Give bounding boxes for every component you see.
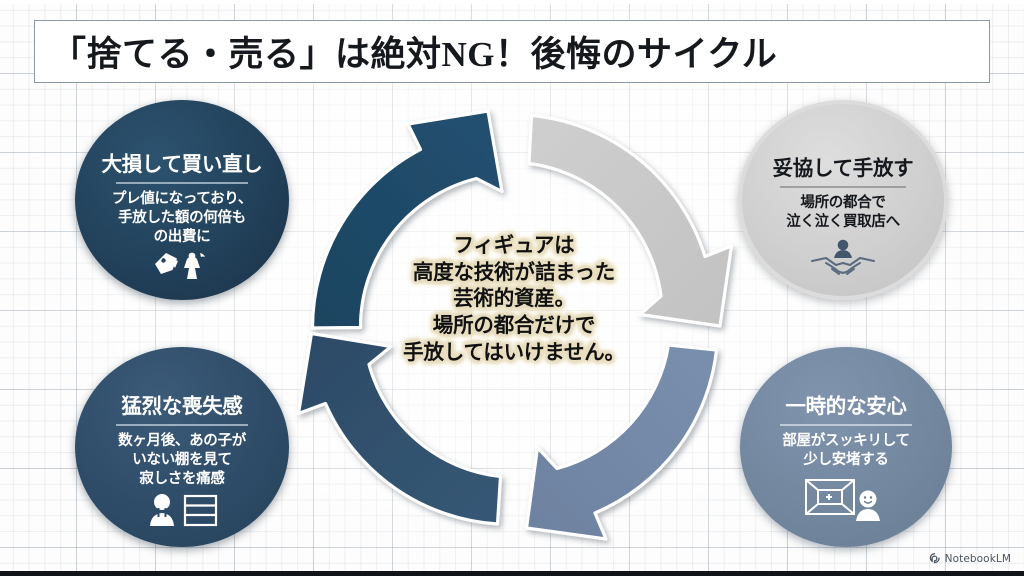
node-body-line-1: 場所の都合で xyxy=(786,194,900,213)
node-body-line-2: いない棚を見て xyxy=(118,451,246,470)
center-message-line-1: フィギュアは xyxy=(356,232,672,259)
bottom-edge-band xyxy=(0,571,1024,576)
node-body: 場所の都合で 泣く泣く買取店へ xyxy=(786,194,900,233)
node-title: 大損して買い直し xyxy=(102,147,263,177)
node-divider xyxy=(116,424,249,426)
cycle-arrow-bottom-right xyxy=(527,345,717,539)
node-body-line-1: 数ヶ月後、あの子が xyxy=(118,432,246,451)
node-body-line-1: プレ値になっており、 xyxy=(112,190,252,209)
crying-person-empty-shelf-icon xyxy=(145,493,219,527)
watermark-label: NotebookLM xyxy=(945,553,1011,565)
node-body-line-1: 部屋がスッキリして xyxy=(782,432,909,451)
node-divider xyxy=(780,186,905,188)
node-body-line-2: 手放した額の何倍も xyxy=(112,209,252,228)
node-body: 部屋がスッキリして 少し安堵する xyxy=(782,432,909,471)
node-title: 妥協して手放す xyxy=(773,151,914,181)
node-divider xyxy=(116,182,249,184)
tidy-room-smiling-person-icon xyxy=(804,478,888,522)
page-title: 「捨てる・売る」は絶対NG！後悔のサイクル xyxy=(35,26,777,77)
node-title: 一時的な安心 xyxy=(785,389,906,419)
price-tag-figure-icon xyxy=(153,251,211,281)
notebooklm-watermark: NotebookLM xyxy=(928,552,1011,565)
node-divider xyxy=(780,424,911,426)
node-moretsuna-soushitsukan[interactable]: 猛烈な喪失感 数ヶ月後、あの子が いない棚を見て 寂しさを痛感 xyxy=(75,347,289,547)
node-body: プレ値になっており、 手放した額の何倍も の出費に xyxy=(112,190,252,248)
node-body: 数ヶ月後、あの子が いない棚を見て 寂しさを痛感 xyxy=(118,432,246,490)
node-oosonshite-kainaoshi[interactable]: 大損して買い直し プレ値になっており、 手放した額の何倍も の出費に xyxy=(75,100,289,300)
node-body-line-2: 少し安堵する xyxy=(782,451,909,470)
node-body-line-3: 寂しさを痛感 xyxy=(118,470,246,489)
handshake-icon xyxy=(810,239,876,277)
notebooklm-logo-icon xyxy=(928,552,941,565)
top-edge-band xyxy=(0,0,1024,4)
node-body-line-3: の出費に xyxy=(112,228,252,247)
center-message-line-4: 場所の都合だけで xyxy=(356,312,672,339)
center-message-line-5: 手放してはいけません。 xyxy=(356,339,672,366)
slide-canvas: 「捨てる・売る」は絶対NG！後悔のサイクル xyxy=(0,0,1024,576)
center-message-line-2: 高度な技術が詰まった xyxy=(356,259,672,286)
node-body-line-2: 泣く泣く買取店へ xyxy=(786,213,900,232)
title-bar: 「捨てる・売る」は絶対NG！後悔のサイクル xyxy=(34,20,990,83)
node-title: 猛烈な喪失感 xyxy=(121,389,242,419)
center-message-line-3: 芸術的資産。 xyxy=(356,285,672,312)
node-dakyoushite-tebanasu[interactable]: 妥協して手放す 場所の都合で 泣く泣く買取店へ xyxy=(738,100,948,300)
node-ichijiteki-na-anshin[interactable]: 一時的な安心 部屋がスッキリして 少し安堵する xyxy=(740,347,952,547)
center-message: フィギュアは 高度な技術が詰まった 芸術的資産。 場所の都合だけで 手放してはい… xyxy=(356,232,672,365)
